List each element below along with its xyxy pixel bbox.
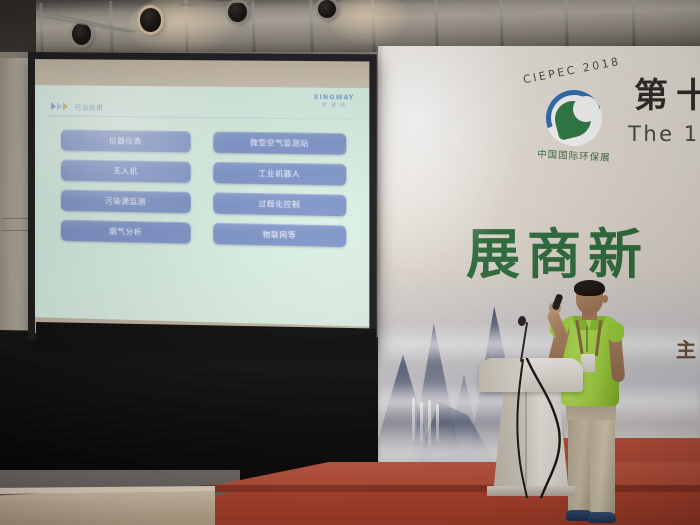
ciepec-emblem-icon [546, 90, 602, 146]
presenter-badge [581, 354, 595, 372]
presenter-hair [574, 280, 605, 296]
chevron-right-triple-icon [51, 102, 68, 110]
banner-title-en: The 16' [628, 122, 700, 146]
screen-top-band [35, 59, 369, 88]
lectern [479, 358, 583, 494]
slide-pill-label: 物联网等 [263, 229, 297, 241]
presenter-shoe-right [588, 512, 616, 523]
slide-pill-label: 污染源监测 [105, 195, 146, 207]
presenter-sleeve-right [607, 322, 624, 342]
brand-subtitle: 星 威 通 [314, 102, 355, 109]
slide-pill-label: 工业机器人 [258, 168, 300, 180]
slide-pill: 微型空气监测站 [213, 131, 346, 154]
duct-vent-icon [72, 23, 91, 45]
duct-vent-icon [318, 0, 336, 18]
presenter-leg-right [590, 416, 615, 514]
slide-pill: 仪器仪表 [61, 129, 191, 152]
projection-screen: 行业应用 SINGWAY 星 威 通 仪器仪表 微型空气监测站 无人机 工业机器… [28, 52, 377, 351]
lectern-base [487, 486, 575, 496]
duct-vent-icon [140, 8, 161, 32]
photo-scene: CIEPEC 2018 中国国际环保展 第十 The 16' 展商新 主 [0, 0, 700, 525]
lectern-body [493, 390, 569, 494]
slide-pill-label: 仪器仪表 [109, 135, 142, 147]
ciepec-logo: CIEPEC 2018 中国国际环保展 [516, 64, 632, 176]
waterfall [412, 398, 415, 442]
slide-pill: 工业机器人 [213, 162, 346, 186]
slide-pill: 污染源监测 [61, 190, 191, 214]
handheld-microphone-icon [551, 293, 563, 310]
slide-pill: 无人机 [61, 160, 191, 183]
presenter-ear [602, 295, 608, 303]
slide-pill: 物联网等 [213, 223, 346, 247]
banner-headline: 展商新 [466, 210, 649, 289]
slide-pill-label: 无人机 [113, 165, 138, 176]
slide-pill-label: 过程化控制 [258, 198, 300, 210]
slide-pill-label: 烟气分析 [109, 226, 142, 238]
presentation-slide: 行业应用 SINGWAY 星 威 通 仪器仪表 微型空气监测站 无人机 工业机器… [35, 85, 369, 327]
screen-surface: 行业应用 SINGWAY 星 威 通 仪器仪表 微型空气监测站 无人机 工业机器… [35, 59, 369, 343]
lectern-top [479, 358, 583, 392]
slide-pill: 过程化控制 [213, 192, 346, 216]
slide-header-label: 行业应用 [75, 101, 103, 111]
presenter-placket [586, 326, 588, 352]
ciepec-org-name: 中国国际环保展 [512, 145, 637, 165]
slide-brand-logo: SINGWAY 星 威 通 [314, 94, 355, 109]
slide-pill: 烟气分析 [61, 220, 191, 244]
slide-pill-label: 微型空气监测站 [250, 137, 309, 149]
duct-vent-icon [228, 2, 247, 22]
brand-name: SINGWAY [314, 94, 355, 102]
banner-side-text: 主 [676, 334, 696, 363]
banner-title-cn: 第十 [634, 68, 700, 117]
slide-button-grid: 仪器仪表 微型空气监测站 无人机 工业机器人 污染源监测 过程化控制 烟气分析 … [61, 129, 346, 247]
lectern-seam [525, 390, 527, 494]
